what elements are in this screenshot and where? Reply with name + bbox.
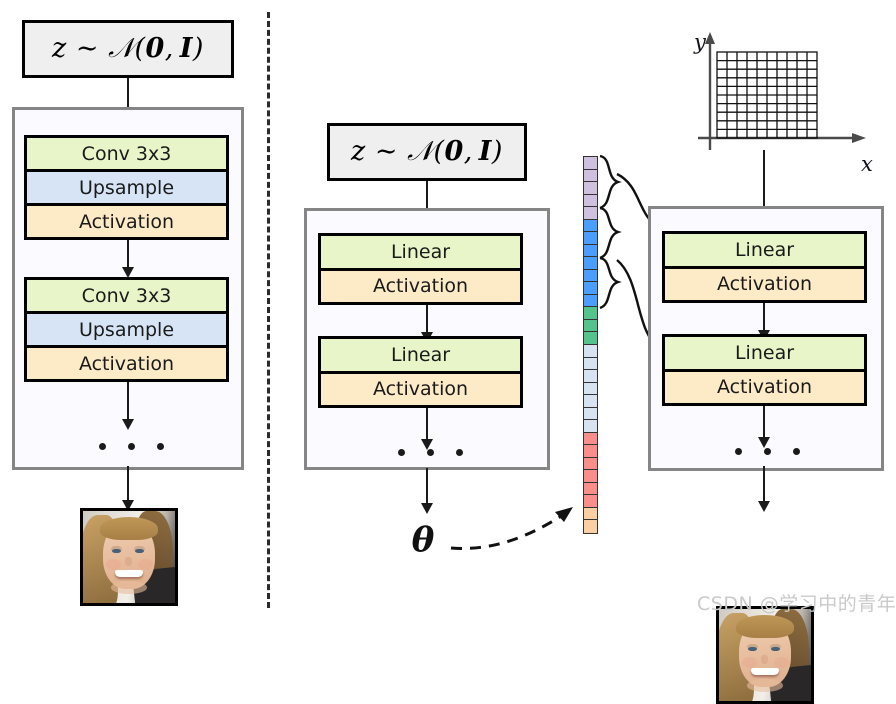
- weight-cell-red-segment-0: [584, 433, 597, 446]
- left-ellipsis: [99, 443, 164, 450]
- left-arrow-to-output: [121, 466, 135, 511]
- left-block-1: Conv 3x3 Upsample Activation: [24, 135, 229, 240]
- middle-block-2: Linear Activation: [318, 336, 523, 408]
- weight-cell-blue-segment-0: [584, 220, 597, 233]
- middle-latent-box: z ∼ 𝒩(0, I): [327, 123, 527, 181]
- middle-block-1-activation: Activation: [321, 268, 520, 303]
- weight-cell-pale-blue-segment-5: [584, 408, 597, 421]
- y-axis-label: y: [694, 30, 706, 54]
- weight-cell-purple-segment-1: [584, 170, 597, 183]
- weight-cell-purple-segment-0: [584, 157, 597, 170]
- middle-block-2-linear: Linear: [321, 339, 520, 371]
- weight-cell-blue-segment-5: [584, 282, 597, 295]
- middle-latent-label: z ∼ 𝒩(0, I): [351, 136, 503, 168]
- xy-coordinate-grid: [690, 30, 880, 170]
- right-arrow-block2-to-ellipsis: [757, 406, 771, 448]
- middle-arrow-block2-to-ellipsis: [420, 408, 434, 450]
- weight-cell-purple-segment-2: [584, 182, 597, 195]
- weight-cell-orange-segment-1: [584, 520, 597, 533]
- weight-cell-orange-segment-0: [584, 508, 597, 521]
- weight-cell-blue-segment-4: [584, 270, 597, 283]
- right-block-1-linear: Linear: [665, 234, 864, 266]
- left-output-face-image: [80, 508, 178, 606]
- weight-cell-blue-segment-6: [584, 295, 597, 308]
- left-latent-label: z ∼ 𝒩(0, I): [52, 33, 204, 65]
- weight-cell-red-segment-3: [584, 470, 597, 483]
- right-block-1: Linear Activation: [662, 231, 867, 303]
- left-block-1-conv: Conv 3x3: [27, 138, 226, 169]
- left-arrow-block1-to-block2: [121, 240, 135, 278]
- left-latent-box: z ∼ 𝒩(0, I): [22, 20, 234, 78]
- weight-cell-green-segment-0: [584, 307, 597, 320]
- left-block-2: Conv 3x3 Upsample Activation: [24, 277, 229, 382]
- weight-cell-pale-blue-segment-3: [584, 383, 597, 396]
- weight-cell-pale-blue-segment-2: [584, 370, 597, 383]
- weight-cell-pale-blue-segment-6: [584, 420, 597, 433]
- middle-block-1-linear: Linear: [321, 236, 520, 268]
- panel-divider: [267, 12, 270, 608]
- left-block-2-conv: Conv 3x3: [27, 280, 226, 311]
- right-block-2-linear: Linear: [665, 337, 864, 369]
- csdn-watermark: CSDN @学习中的青年: [697, 589, 896, 616]
- weight-cell-pale-blue-segment-0: [584, 345, 597, 358]
- middle-block-2-activation: Activation: [321, 371, 520, 406]
- weight-cell-red-segment-1: [584, 445, 597, 458]
- weight-cell-blue-segment-3: [584, 257, 597, 270]
- left-block-1-activation: Activation: [27, 203, 226, 237]
- left-block-2-upsample: Upsample: [27, 311, 226, 345]
- right-ellipsis: [735, 448, 800, 455]
- weight-cell-blue-segment-1: [584, 232, 597, 245]
- left-block-1-upsample: Upsample: [27, 169, 226, 203]
- weight-cell-green-segment-2: [584, 332, 597, 345]
- middle-block-1: Linear Activation: [318, 233, 523, 305]
- right-block-2: Linear Activation: [662, 334, 867, 406]
- weight-cell-green-segment-1: [584, 320, 597, 333]
- weight-cell-pale-blue-segment-4: [584, 395, 597, 408]
- weight-cell-purple-segment-3: [584, 195, 597, 208]
- middle-ellipsis: [398, 449, 463, 456]
- weight-cell-blue-segment-2: [584, 245, 597, 258]
- weight-cell-purple-segment-4: [584, 207, 597, 220]
- left-block-2-activation: Activation: [27, 345, 226, 379]
- figure-canvas: z ∼ 𝒩(0, I) Conv 3x3 Upsample Activation…: [0, 0, 896, 621]
- weight-cell-red-segment-5: [584, 495, 597, 508]
- weight-cell-red-segment-4: [584, 483, 597, 496]
- left-arrow-block2-to-ellipsis: [121, 382, 135, 430]
- middle-arrow-to-theta: [420, 468, 434, 514]
- theta-to-weights-dashed-arrow: [445, 495, 585, 565]
- weight-cell-red-segment-2: [584, 458, 597, 471]
- weight-cell-pale-blue-segment-1: [584, 358, 597, 371]
- theta-symbol: θ: [403, 518, 443, 562]
- x-axis-label: x: [861, 152, 873, 176]
- right-block-2-activation: Activation: [665, 369, 864, 404]
- predicted-weight-vector: [583, 156, 598, 534]
- right-arrow-to-output: [757, 466, 771, 512]
- right-block-1-activation: Activation: [665, 266, 864, 301]
